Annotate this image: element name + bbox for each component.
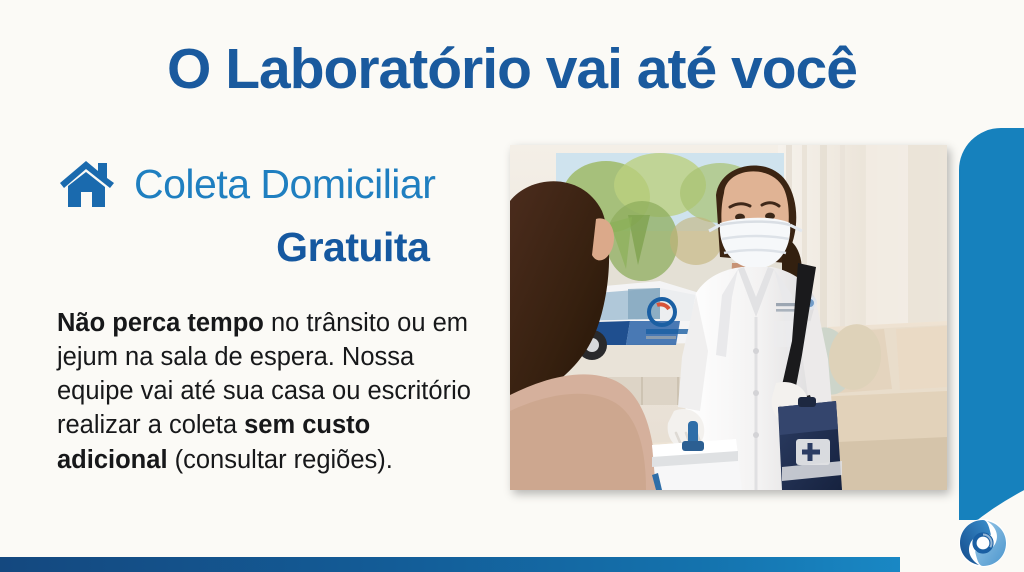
- slide-canvas: O Laboratório vai até você Coleta Domici…: [0, 0, 1024, 572]
- bottom-blue-bar: [0, 557, 1024, 572]
- page-title: O Laboratório vai até você: [0, 36, 1024, 102]
- subheading-block: Coleta Domiciliar Gratuita: [56, 156, 435, 271]
- subheading-line-2: Gratuita: [56, 224, 435, 271]
- photo-home-collection: [510, 145, 947, 490]
- medical-shoulder-bag: [778, 397, 842, 490]
- subheading-row: Coleta Domiciliar: [56, 156, 435, 212]
- swirl-circle-logo: [958, 518, 1008, 568]
- body-text-2: (consultar regiões).: [168, 446, 393, 474]
- house-icon: [56, 156, 120, 212]
- body-bold-1: Não perca tempo: [57, 309, 264, 337]
- body-paragraph: Não perca tempo no trânsito ou em jejum …: [57, 306, 487, 477]
- subheading-line-1: Coleta Domiciliar: [134, 164, 435, 205]
